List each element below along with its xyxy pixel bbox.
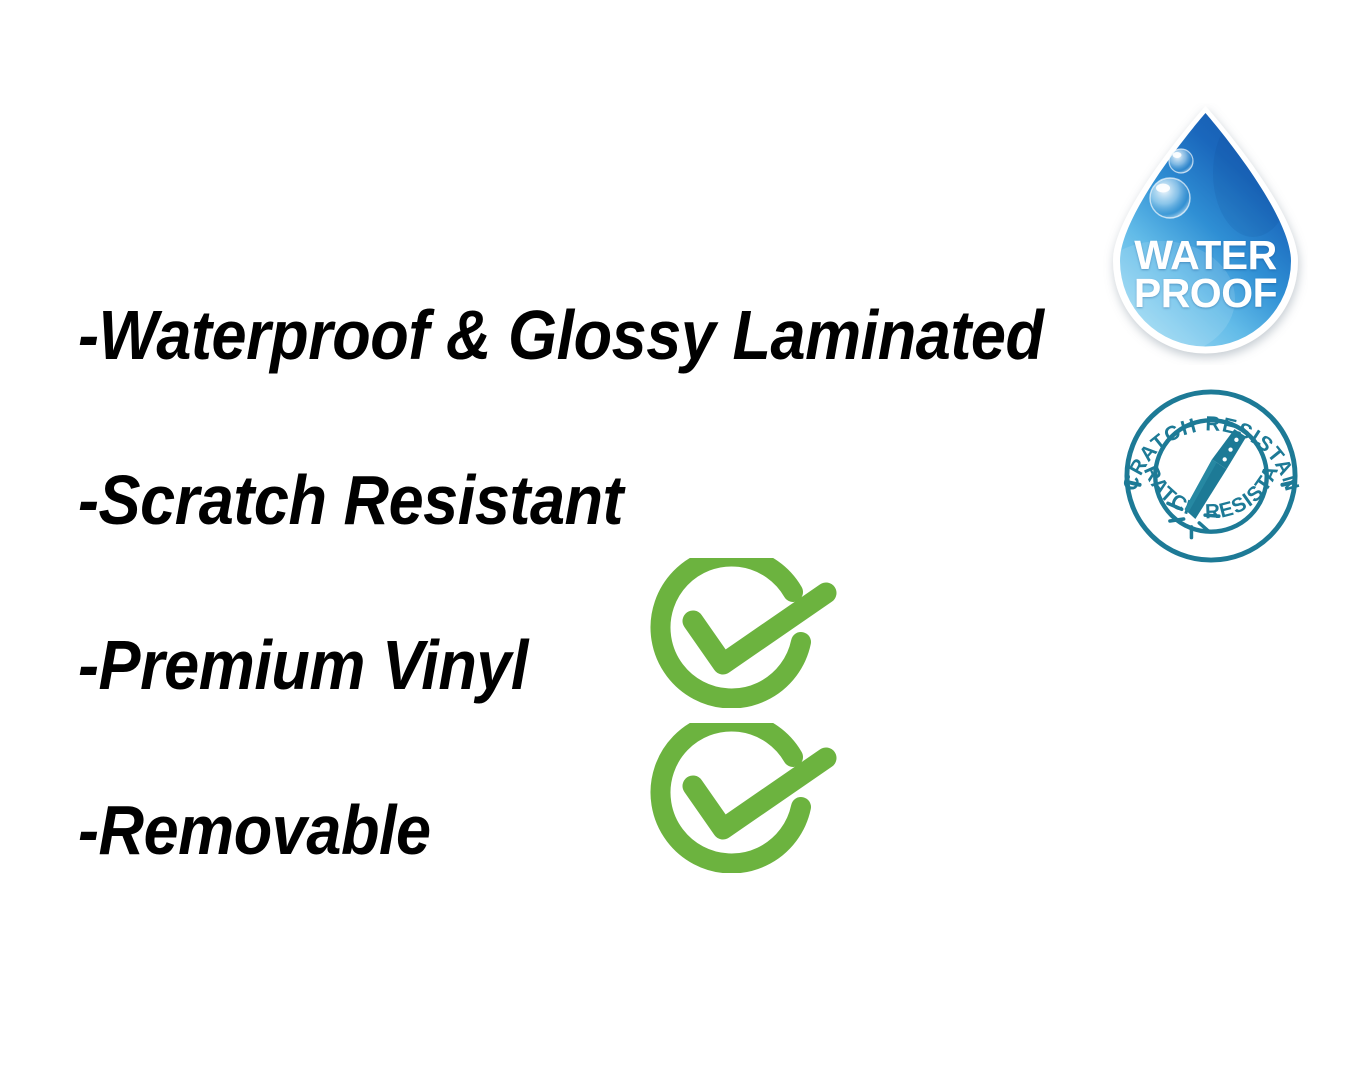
list-item: -Scratch Resistant [78,417,1098,582]
check-circle-icon [645,723,840,878]
water-drop-icon [1103,103,1308,365]
feature-label-removable: -Removable [78,795,431,865]
feature-list: -Waterproof & Glossy Laminated -Scratch … [78,252,1098,912]
check-circle-icon [645,558,840,713]
feature-label-scratch-resistant: -Scratch Resistant [78,465,623,535]
list-item: -Removable [78,747,1098,912]
waterproof-badge: WATER PROOF [1103,103,1308,365]
feature-highlights-graphic: -Waterproof & Glossy Laminated -Scratch … [0,0,1359,1080]
list-item: -Premium Vinyl [78,582,1098,747]
list-item: -Waterproof & Glossy Laminated [78,252,1098,417]
scratch-resistant-badge: SCRATCH RESISTANT SCRATCH RESISTANT [1113,388,1309,564]
feature-label-premium-vinyl: -Premium Vinyl [78,630,528,700]
feature-label-waterproof-glossy-laminated: -Waterproof & Glossy Laminated [78,300,1044,370]
